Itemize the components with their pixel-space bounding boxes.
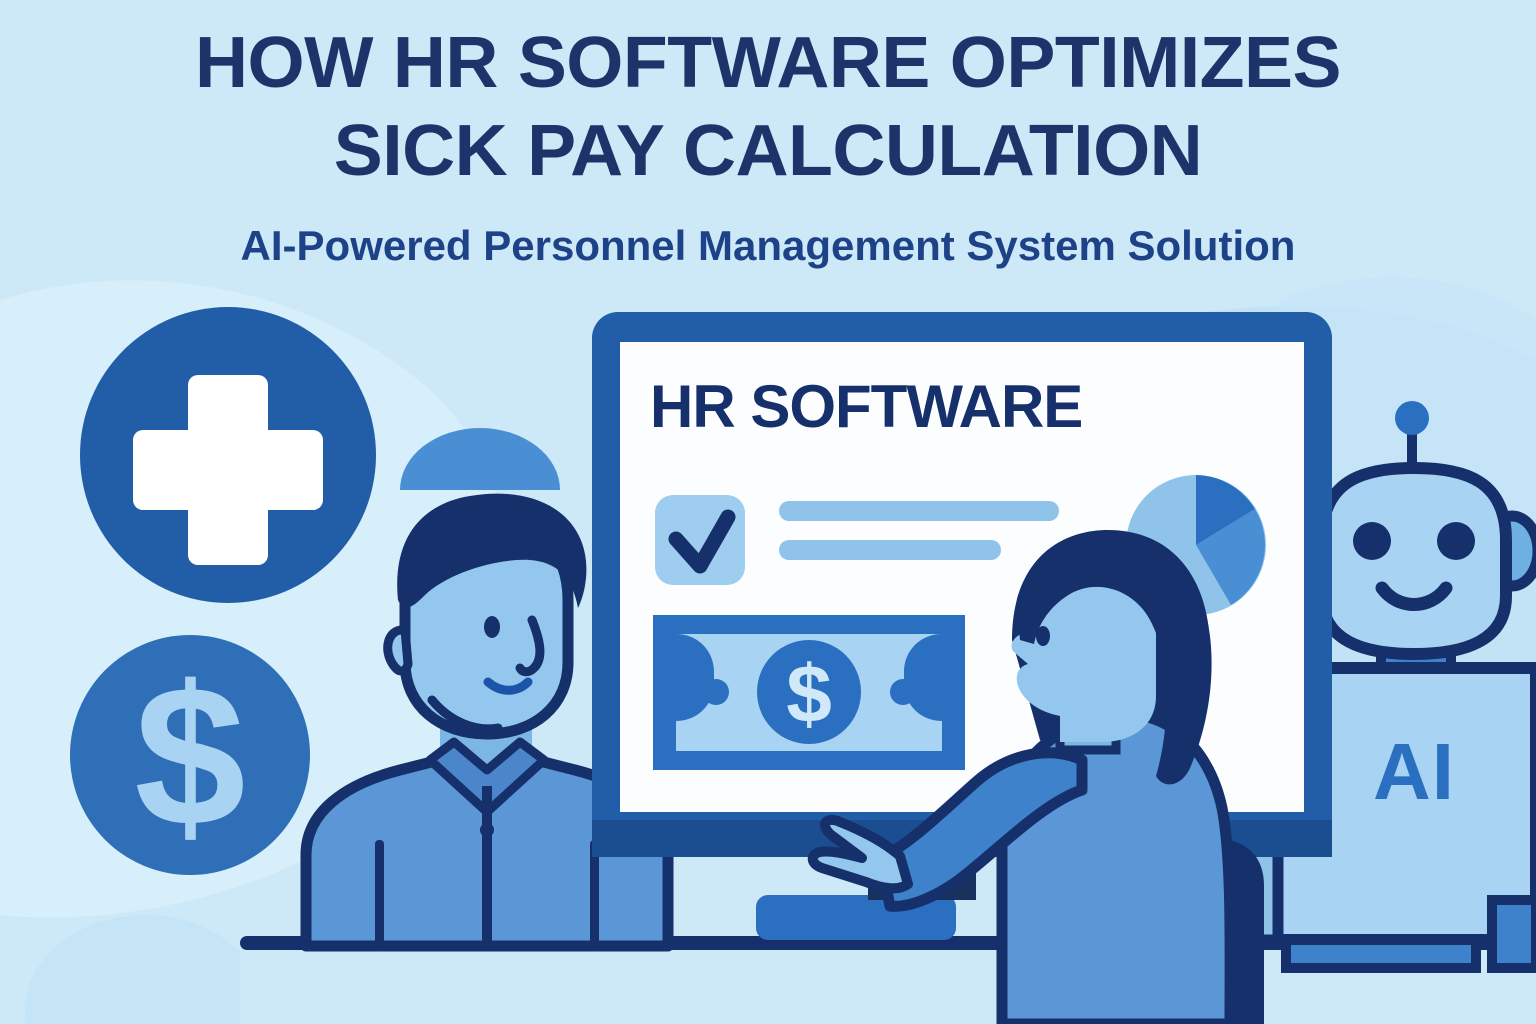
robot-antenna-tip bbox=[1395, 401, 1429, 435]
poster-canvas: $ bbox=[0, 0, 1536, 1024]
robot-eye-right bbox=[1437, 522, 1475, 560]
medical-cross-badge[interactable] bbox=[80, 307, 376, 603]
illustration-layer: $ bbox=[0, 0, 1536, 1024]
banknote-dot-right bbox=[890, 679, 916, 705]
dollar-badge[interactable]: $ bbox=[70, 635, 310, 875]
banknote-dollar-sign: $ bbox=[786, 649, 832, 740]
text-line-2 bbox=[779, 540, 1001, 560]
text-line-1 bbox=[779, 501, 1059, 521]
banknote-dot-left bbox=[703, 679, 729, 705]
robot-eye-left bbox=[1353, 522, 1391, 560]
employee-seam-left bbox=[375, 840, 384, 946]
dollar-banknote: $ bbox=[653, 615, 965, 770]
checkbox-checked[interactable] bbox=[655, 495, 745, 585]
employee-eye bbox=[484, 616, 500, 638]
robot-leg-base-right bbox=[1492, 900, 1536, 968]
employee-ear bbox=[388, 630, 408, 671]
dollar-sign-icon: $ bbox=[134, 645, 245, 868]
robot-leg-base-left bbox=[1286, 940, 1476, 968]
robot-head bbox=[1322, 468, 1506, 654]
female-eye bbox=[1036, 626, 1050, 646]
employee-placket bbox=[482, 786, 492, 946]
employee-button bbox=[480, 823, 494, 837]
